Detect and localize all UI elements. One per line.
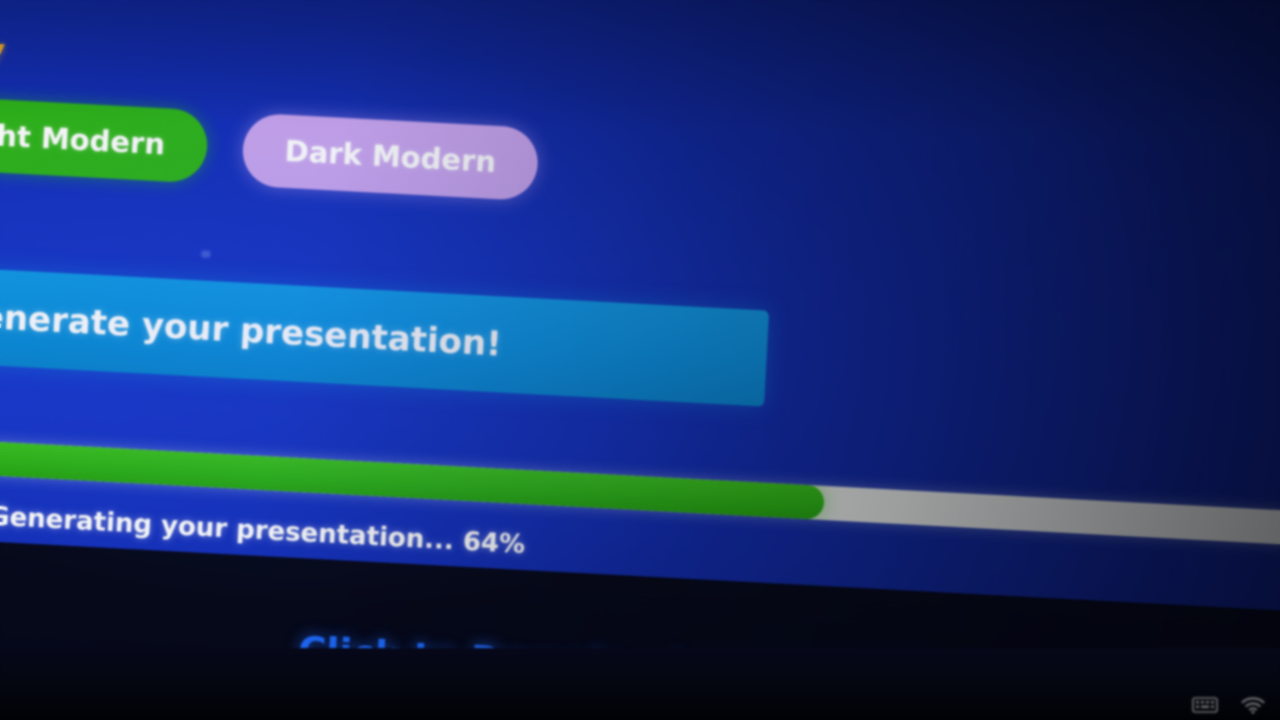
style-option-bright-modern[interactable]: Bright Modern bbox=[0, 94, 209, 184]
style-option-dark-modern[interactable]: Dark Modern bbox=[241, 113, 540, 202]
style-picker: Bright Modern Dark Modern bbox=[0, 94, 540, 202]
wifi-icon[interactable] bbox=[1240, 696, 1266, 714]
screen-speck bbox=[201, 250, 210, 257]
monitor-screen: ...cally Bright Modern Dark Modern Gener… bbox=[0, 0, 1280, 720]
page-tagline: ...cally bbox=[0, 28, 6, 69]
app-content: ...cally Bright Modern Dark Modern Gener… bbox=[0, 0, 1280, 630]
monitor-bezel bbox=[0, 648, 1280, 720]
monitor-photo: ...cally Bright Modern Dark Modern Gener… bbox=[0, 0, 1280, 720]
progress-bar-fill bbox=[0, 424, 825, 520]
generate-presentation-button[interactable]: Generate your presentation! bbox=[0, 253, 769, 406]
keyboard-icon[interactable] bbox=[1192, 696, 1218, 714]
system-tray bbox=[1192, 696, 1266, 714]
